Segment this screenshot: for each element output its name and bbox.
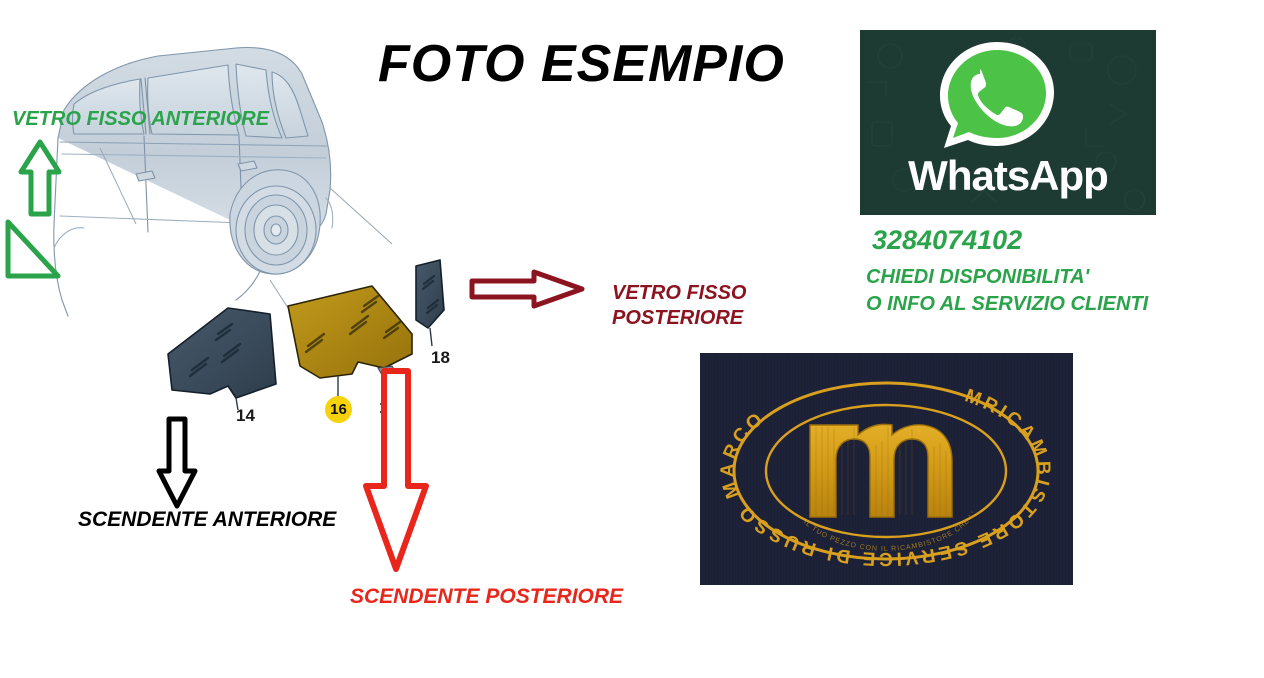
contact-customer-service-line: O INFO AL SERVIZIO CLIENTI — [866, 293, 1148, 316]
company-logo-photo: MRICAMBISTORE SERVICE DI RUSSO MARCO — [700, 353, 1073, 585]
whatsapp-banner: WhatsApp — [860, 30, 1156, 215]
page-title: FOTO ESEMPIO — [378, 34, 785, 94]
label-vetro-fisso-posteriore: VETRO FISSO POSTERIORE — [612, 281, 746, 331]
part-number-18: 18 — [431, 348, 450, 368]
arrow-right-darkred-icon — [468, 268, 586, 310]
company-logo-monogram — [810, 424, 952, 517]
label-line-2: POSTERIORE — [612, 306, 746, 331]
arrow-down-red-icon — [360, 368, 432, 573]
part-number-16-badge: 16 — [325, 396, 352, 423]
label-scendente-posteriore: SCENDENTE POSTERIORE — [350, 585, 623, 609]
screenshot-canvas: 14 16 17 18 FOTO ESEMPIO VETRO FISSO ANT… — [0, 0, 1264, 678]
arrow-down-black-icon — [155, 415, 199, 510]
whatsapp-wordmark: WhatsApp — [860, 152, 1156, 200]
label-scendente-anteriore: SCENDENTE ANTERIORE — [78, 508, 336, 532]
part-16-shape — [288, 286, 412, 378]
part-18-shape — [416, 260, 444, 328]
label-line-1: VETRO FISSO — [612, 281, 746, 306]
label-vetro-fisso-anteriore: VETRO FISSO ANTERIORE — [12, 108, 269, 131]
contact-availability-line: CHIEDI DISPONIBILITA' — [866, 266, 1089, 289]
part-14-shape — [168, 308, 276, 398]
whatsapp-logo-icon — [932, 36, 1062, 154]
part-number-14: 14 — [236, 406, 255, 426]
contact-phone-number: 3284074102 — [872, 225, 1022, 256]
arrow-up-green-icon — [18, 138, 62, 218]
arrow-triangle-green-icon — [2, 218, 62, 284]
